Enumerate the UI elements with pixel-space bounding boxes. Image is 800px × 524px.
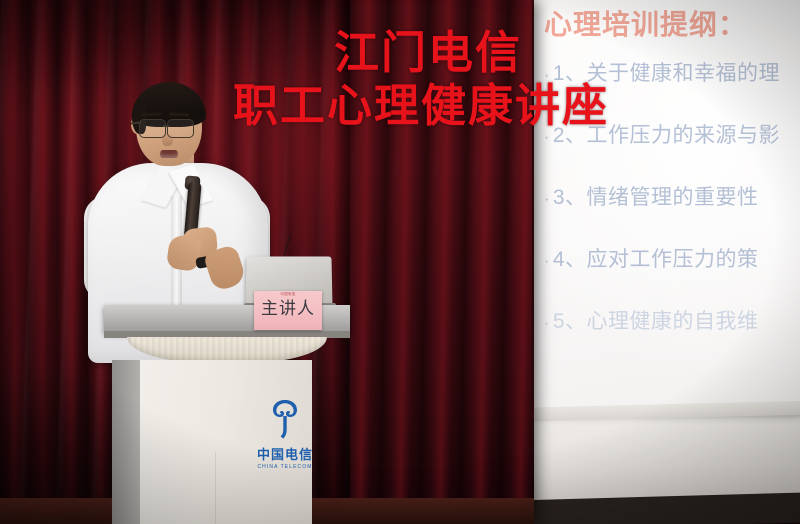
china-telecom-name-en: CHINA TELECOM: [246, 464, 324, 470]
china-telecom-mark-icon: [263, 396, 307, 442]
china-telecom-logo: 中国电信 CHINA TELECOM: [246, 396, 324, 470]
photo-scene: 心理培训提纲： · 1、 关于健康和幸福的理 · 2、 工作压力的来源与影 · …: [0, 0, 800, 524]
speaker-mouth: [160, 150, 178, 158]
podium-side-panel: [112, 360, 142, 524]
nameplate-label: 主讲人: [254, 300, 322, 317]
speaker-nose: [162, 132, 173, 146]
glasses-bridge: [163, 125, 169, 127]
speaker-nameplate: 中国电信 主讲人: [254, 291, 322, 330]
nameplate-logo-mark: 中国电信: [254, 293, 322, 297]
china-telecom-name-cn: 中国电信: [246, 444, 324, 463]
podium-panel-seam: [215, 452, 216, 524]
